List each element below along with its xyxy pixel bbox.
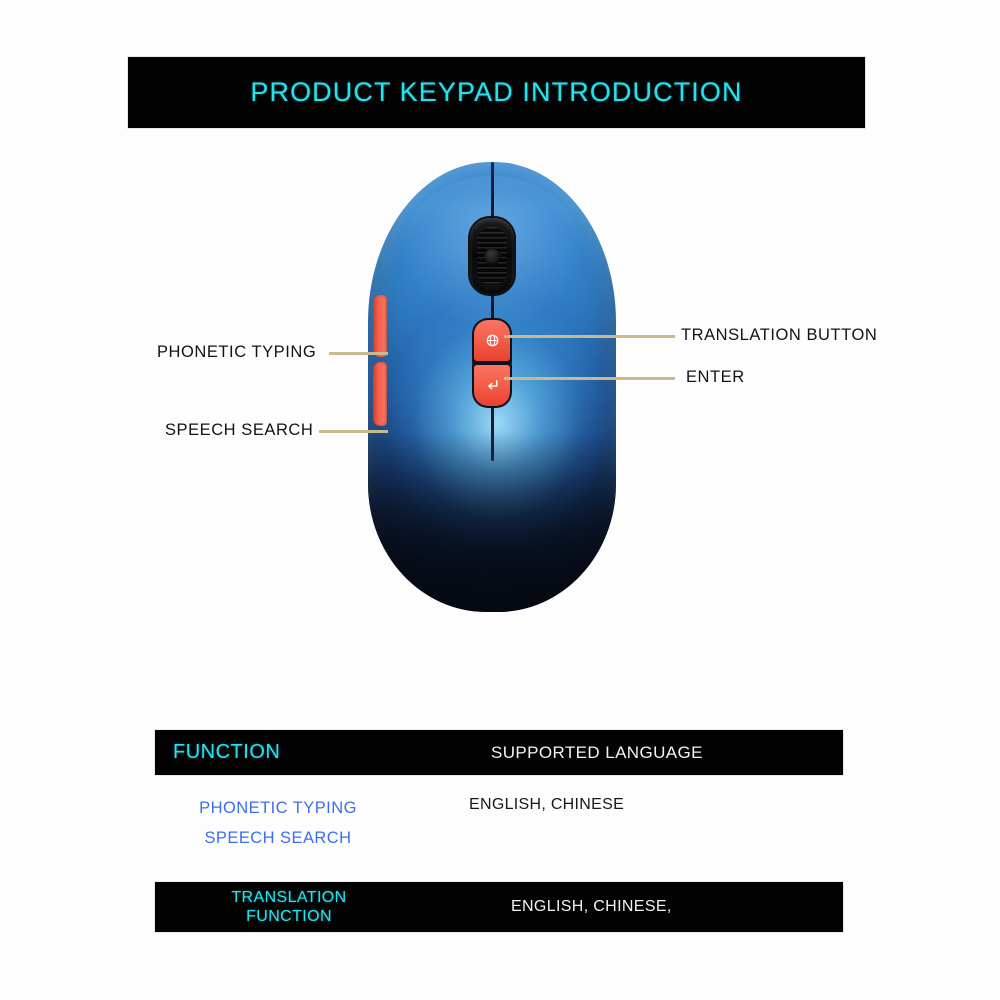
scroll-wheel[interactable] [470, 218, 514, 294]
table-row: TRANSLATION FUNCTION ENGLISH, CHINESE, [155, 882, 843, 932]
table-header-language-label: SUPPORTED LANGUAGE [401, 743, 843, 763]
leader-line-translation-button [504, 335, 675, 338]
callout-enter: ENTER [686, 368, 745, 387]
phonetic-typing-side-button[interactable] [373, 295, 387, 357]
page-title: PRODUCT KEYPAD INTRODUCTION [250, 77, 742, 108]
table-row: PHONETIC TYPING SPEECH SEARCH ENGLISH, C… [155, 775, 843, 875]
callout-translation-button: TRANSLATION BUTTON [681, 326, 877, 345]
leader-line-phonetic-typing [329, 352, 388, 355]
scroll-wheel-center [484, 248, 501, 265]
callout-phonetic-typing: PHONETIC TYPING [157, 343, 316, 362]
product-illustration: PHONETIC TYPING SPEECH SEARCH TRANSLATIO… [0, 140, 1000, 700]
callout-speech-search: SPEECH SEARCH [165, 421, 313, 440]
table-header-row: FUNCTION SUPPORTED LANGUAGE [155, 730, 843, 775]
mouse-graphic [368, 162, 616, 612]
supported-language-value: ENGLISH, CHINESE [401, 781, 843, 814]
leader-line-enter [504, 377, 675, 380]
leader-line-speech-search [319, 430, 388, 433]
speech-search-side-button[interactable] [373, 362, 387, 426]
function-translation-line-1: TRANSLATION [177, 888, 401, 907]
button-seam-bottom [491, 405, 494, 461]
enter-button[interactable] [474, 365, 510, 406]
table-header-function-label: FUNCTION [155, 741, 401, 764]
supported-language-value: ENGLISH, CHINESE, [401, 898, 843, 916]
table-cell-function: PHONETIC TYPING SPEECH SEARCH [155, 781, 401, 853]
center-button-group [474, 320, 510, 406]
translation-button[interactable] [474, 320, 510, 361]
globe-icon [485, 333, 500, 348]
function-speech-search: SPEECH SEARCH [155, 823, 401, 853]
table-cell-language: ENGLISH, CHINESE, [401, 898, 843, 916]
function-phonetic-typing: PHONETIC TYPING [155, 793, 401, 823]
table-header-function-cell: FUNCTION [155, 741, 401, 764]
function-list: PHONETIC TYPING SPEECH SEARCH [155, 781, 401, 853]
table-cell-language: ENGLISH, CHINESE [401, 781, 843, 814]
enter-arrow-icon [484, 378, 500, 393]
button-seam-middle [491, 292, 494, 320]
button-seam-top [491, 162, 494, 224]
specification-table: FUNCTION SUPPORTED LANGUAGE PHONETIC TYP… [155, 730, 843, 932]
function-translation-line-2: FUNCTION [177, 907, 401, 926]
header-banner: PRODUCT KEYPAD INTRODUCTION [128, 57, 865, 128]
table-cell-function: TRANSLATION FUNCTION [155, 888, 401, 926]
function-translation: TRANSLATION FUNCTION [155, 888, 401, 926]
table-header-language-cell: SUPPORTED LANGUAGE [401, 743, 843, 763]
